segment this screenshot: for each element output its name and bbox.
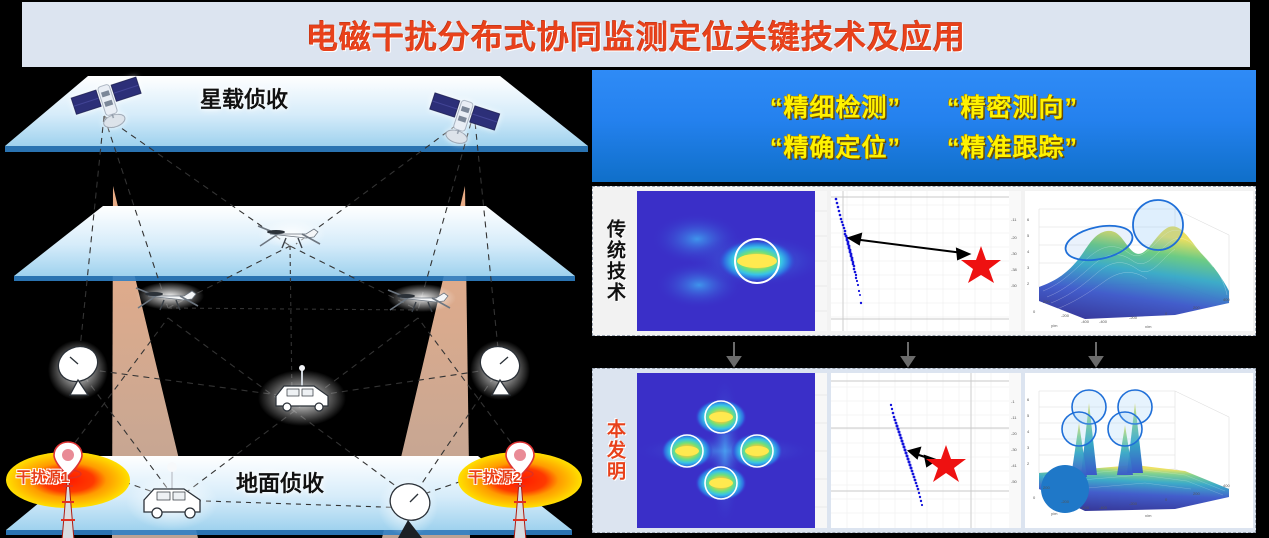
row-label-invention: 本发明 [593, 369, 635, 532]
slogan-2: “精密测向” [947, 88, 1078, 124]
svg-text:-50: -50 [1011, 479, 1018, 484]
van-icon [258, 365, 346, 426]
svg-text:200: 200 [1043, 299, 1050, 304]
svg-text:-200: -200 [1129, 501, 1138, 506]
slogan-row-2: “精确定位” “精准跟踪” [770, 128, 1078, 164]
poster-root: 电磁干扰分布式协同监测定位关键技术及应用 [0, 0, 1269, 538]
svg-text:-30: -30 [1011, 251, 1018, 256]
slogan-1: “精细检测” [770, 88, 901, 124]
poster-header: 电磁干扰分布式协同监测定位关键技术及应用 [22, 2, 1250, 67]
row-label-invention-text: 本发明 [604, 419, 624, 482]
system-architecture-diagram: 星载侦收 地面侦收 干扰源1 干扰源2 [0, 68, 588, 538]
flow-arrows [592, 338, 1256, 368]
plane-satellite-layer [5, 76, 588, 152]
scatter-invention: -1-11 -20-30 -41-50 [831, 373, 1021, 528]
heatmap-traditional [637, 191, 827, 331]
results-panel: “精细检测” “精密测向” “精确定位” “精准跟踪” 传统技术 [590, 68, 1269, 538]
comparison-row-invention: 本发明 [592, 368, 1256, 533]
svg-text:-200: -200 [1061, 313, 1070, 318]
surface-xlabel: x/m [1145, 513, 1152, 518]
svg-text:-200: -200 [1129, 315, 1138, 320]
scatter-traditional: -11-20 -30-38 -50 [831, 191, 1021, 331]
svg-text:-400: -400 [1099, 319, 1108, 324]
svg-text:-20: -20 [1011, 431, 1018, 436]
svg-text:200: 200 [1043, 485, 1050, 490]
surface-xlabel: x/m [1145, 324, 1152, 329]
surface-ylabel: y/m [1051, 323, 1058, 328]
svg-text:-11: -11 [1011, 217, 1017, 222]
row-label-traditional: 传统技术 [593, 187, 635, 335]
svg-text:-400: -400 [1081, 505, 1090, 510]
row-label-traditional-text: 传统技术 [604, 219, 624, 303]
surface-traditional: 654 32 2000 -200-400 -400-200 0200400 y/… [1025, 191, 1253, 331]
page-title: 电磁干扰分布式协同监测定位关键技术及应用 [22, 2, 1250, 67]
svg-text:-20: -20 [1011, 235, 1018, 240]
surface-ylabel: y/m [1051, 511, 1058, 516]
plane-label-satellite: 星载侦收 [200, 82, 288, 114]
slogan-banner: “精细检测” “精密测向” “精确定位” “精准跟踪” [592, 70, 1256, 182]
jammer-1-label: 干扰源1 [16, 466, 69, 487]
slogan-row-1: “精细检测” “精密测向” [770, 88, 1078, 124]
drone-icon [136, 282, 204, 310]
svg-text:-38: -38 [1011, 267, 1018, 272]
svg-text:200: 200 [1193, 491, 1200, 496]
svg-text:400: 400 [1223, 483, 1230, 488]
svg-text:-41: -41 [1011, 463, 1018, 468]
svg-text:-400: -400 [1099, 505, 1108, 510]
dish-icon [470, 340, 530, 400]
svg-text:-400: -400 [1081, 319, 1090, 324]
svg-text:200: 200 [1193, 305, 1200, 310]
drone-icon [388, 284, 456, 312]
plane-label-ground: 地面侦收 [236, 466, 324, 498]
dish-icon [48, 340, 108, 400]
comparison-row-traditional: 传统技术 [592, 186, 1256, 336]
svg-text:400: 400 [1223, 297, 1230, 302]
jammer-2-label: 干扰源2 [468, 466, 521, 487]
heatmap-invention [637, 373, 827, 528]
slogan-3: “精确定位” [770, 128, 901, 164]
svg-text:-11: -11 [1011, 415, 1017, 420]
svg-text:-50: -50 [1011, 283, 1018, 288]
drone-icon [258, 220, 326, 248]
svg-text:-30: -30 [1011, 447, 1018, 452]
svg-text:-200: -200 [1061, 499, 1070, 504]
slogan-4: “精准跟踪” [947, 128, 1078, 164]
flow-arrow [728, 342, 1102, 366]
surface-invention: 654 32 2000 -200-400 -400-200 0200400 y/… [1025, 373, 1253, 528]
